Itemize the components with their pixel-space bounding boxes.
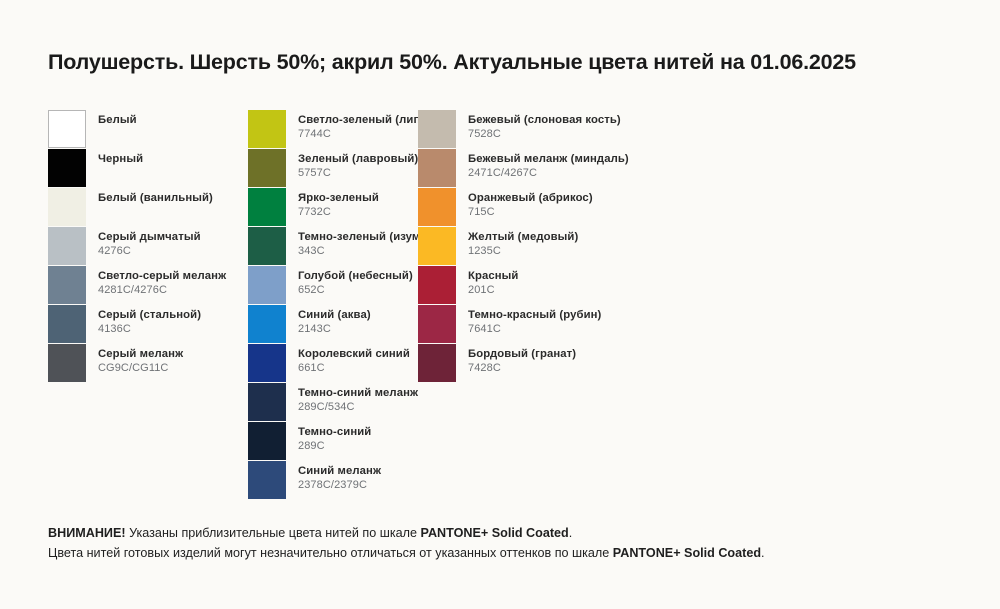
color-labels: Бежевый меланж (миндаль)2471C/4267C [468,149,629,180]
color-chip [418,149,456,187]
color-name: Красный [468,270,518,283]
pantone-code: 4281C/4276C [98,284,226,297]
color-name: Темно-синий [298,426,371,439]
color-labels: Светло-зеленый (липа)7744C [298,110,431,141]
color-swatch-row: Светло-серый меланж4281C/4276C [48,266,248,305]
pantone-code: 201C [468,284,518,297]
color-chip [418,344,456,382]
color-name: Черный [98,153,143,166]
color-labels: Белый (ванильный) [98,188,213,205]
color-labels: Серый дымчатый4276C [98,227,201,258]
pantone-scale-name-2: PANTONE+ Solid Coated [613,546,761,560]
disclaimer-attention-label: ВНИМАНИЕ! [48,526,126,540]
color-name: Темно-синий меланж [298,387,418,400]
pantone-code: 7744C [298,128,431,141]
color-labels: Ярко-зеленый7732C [298,188,379,219]
color-swatch-row: Светло-зеленый (липа)7744C [248,110,418,149]
disclaimer-line-1-end: . [569,526,573,540]
swatch-column-2: Светло-зеленый (липа)7744CЗеленый (лавро… [248,110,418,500]
disclaimer-line-2-end: . [761,546,765,560]
color-swatch-row: Белый (ванильный) [48,188,248,227]
color-name: Синий (аква) [298,309,371,322]
color-swatch-row: Темно-синий меланж289C/534C [248,383,418,422]
color-name: Королевский синий [298,348,410,361]
color-chip [418,227,456,265]
color-name: Серый меланж [98,348,183,361]
disclaimer-line-1: ВНИМАНИЕ! Указаны приблизительные цвета … [48,523,765,543]
color-swatch-row: Королевский синий661C [248,344,418,383]
color-swatch-row: Оранжевый (абрикос)715C [418,188,658,227]
color-chip [48,110,86,148]
color-name: Голубой (небесный) [298,270,413,283]
color-labels: Светло-серый меланж4281C/4276C [98,266,226,297]
color-labels: Черный [98,149,143,166]
swatch-column-3: Бежевый (слоновая кость)7528CБежевый мел… [418,110,658,383]
color-swatch-row: Желтый (медовый)1235C [418,227,658,266]
color-name: Оранжевый (абрикос) [468,192,593,205]
color-chip [48,305,86,343]
pantone-code: 289C [298,440,371,453]
pantone-scale-name-1: PANTONE+ Solid Coated [420,526,568,540]
color-name: Темно-красный (рубин) [468,309,601,322]
color-chip [248,422,286,460]
pantone-code: 7641C [468,323,601,336]
color-swatch-row: Зеленый (лавровый)5757C [248,149,418,188]
color-chip [248,305,286,343]
pantone-code: 7428C [468,362,576,375]
color-labels: Желтый (медовый)1235C [468,227,578,258]
color-swatch-row: Синий (аква)2143C [248,305,418,344]
disclaimer-line-2-text: Цвета нитей готовых изделий могут незнач… [48,546,613,560]
color-name: Желтый (медовый) [468,231,578,244]
color-name: Бежевый меланж (миндаль) [468,153,629,166]
color-labels: Темно-синий меланж289C/534C [298,383,418,414]
color-name: Бежевый (слоновая кость) [468,114,621,127]
color-labels: Зеленый (лавровый)5757C [298,149,418,180]
color-labels: Белый [98,110,137,127]
pantone-code: 661C [298,362,410,375]
color-labels: Синий (аква)2143C [298,305,371,336]
color-swatch-row: Темно-зеленый (изумруд)343C [248,227,418,266]
color-chip [48,344,86,382]
color-name: Светло-зеленый (липа) [298,114,431,127]
color-labels: Бордовый (гранат)7428C [468,344,576,375]
color-labels: Оранжевый (абрикос)715C [468,188,593,219]
color-chip [48,149,86,187]
color-name: Серый дымчатый [98,231,201,244]
color-swatch-row: Серый меланжCG9C/CG11C [48,344,248,383]
pantone-code: 2143C [298,323,371,336]
color-chip [248,344,286,382]
color-labels: Темно-красный (рубин)7641C [468,305,601,336]
color-chip [48,266,86,304]
color-chip [418,305,456,343]
color-labels: Голубой (небесный)652C [298,266,413,297]
color-swatch-row: Ярко-зеленый7732C [248,188,418,227]
color-labels: Синий меланж2378C/2379C [298,461,381,492]
pantone-code: 7528C [468,128,621,141]
pantone-code: 2471C/4267C [468,167,629,180]
color-swatch-row: Темно-синий289C [248,422,418,461]
color-chart-page: Полушерсть. Шерсть 50%; акрил 50%. Актуа… [0,0,1000,609]
color-swatch-row: Синий меланж2378C/2379C [248,461,418,500]
pantone-code: 7732C [298,206,379,219]
color-chip [248,149,286,187]
pantone-code: 289C/534C [298,401,418,414]
color-swatch-row: Серый дымчатый4276C [48,227,248,266]
color-swatch-row: Серый (стальной)4136C [48,305,248,344]
color-chip [48,227,86,265]
color-chip [248,266,286,304]
page-title: Полушерсть. Шерсть 50%; акрил 50%. Актуа… [48,50,856,75]
pantone-code: 1235C [468,245,578,258]
color-chip [248,110,286,148]
color-name: Синий меланж [298,465,381,478]
disclaimer: ВНИМАНИЕ! Указаны приблизительные цвета … [48,523,765,564]
color-chip [248,227,286,265]
color-labels: Бежевый (слоновая кость)7528C [468,110,621,141]
color-name: Бордовый (гранат) [468,348,576,361]
color-name: Ярко-зеленый [298,192,379,205]
color-swatch-row: Черный [48,149,248,188]
color-name: Серый (стальной) [98,309,201,322]
color-chip [418,110,456,148]
pantone-code: 715C [468,206,593,219]
color-name: Белый [98,114,137,127]
color-name: Светло-серый меланж [98,270,226,283]
color-chip [418,266,456,304]
pantone-code: 2378C/2379C [298,479,381,492]
pantone-code: 4136C [98,323,201,336]
pantone-code: CG9C/CG11C [98,362,183,375]
swatch-column-1: БелыйЧерныйБелый (ванильный)Серый дымчат… [48,110,248,383]
disclaimer-line-2: Цвета нитей готовых изделий могут незнач… [48,543,765,563]
color-chip [248,188,286,226]
color-swatch-row: Голубой (небесный)652C [248,266,418,305]
color-swatch-row: Темно-красный (рубин)7641C [418,305,658,344]
color-labels: Темно-синий289C [298,422,371,453]
color-swatch-row: Бежевый (слоновая кость)7528C [418,110,658,149]
color-chip [248,383,286,421]
color-labels: Королевский синий661C [298,344,410,375]
pantone-code: 4276C [98,245,201,258]
disclaimer-line-1-text: Указаны приблизительные цвета нитей по ш… [126,526,421,540]
color-chip [248,461,286,499]
color-chip [48,188,86,226]
color-swatch-row: Красный201C [418,266,658,305]
color-labels: Серый меланжCG9C/CG11C [98,344,183,375]
color-swatch-row: Бордовый (гранат)7428C [418,344,658,383]
color-swatch-row: Бежевый меланж (миндаль)2471C/4267C [418,149,658,188]
color-labels: Красный201C [468,266,518,297]
color-name: Зеленый (лавровый) [298,153,418,166]
color-swatch-row: Белый [48,110,248,149]
color-labels: Серый (стальной)4136C [98,305,201,336]
pantone-code: 652C [298,284,413,297]
color-name: Белый (ванильный) [98,192,213,205]
pantone-code: 5757C [298,167,418,180]
color-chip [418,188,456,226]
